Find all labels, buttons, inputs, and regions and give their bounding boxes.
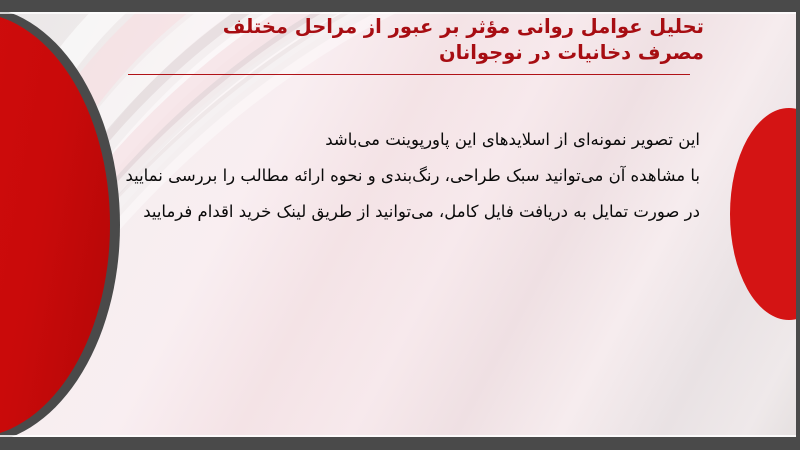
title-underline <box>128 74 690 75</box>
slide-body: این تصویر نمونه‌ای از اسلایدهای این پاور… <box>80 122 700 230</box>
body-line-3: در صورت تمایل به دریافت فایل کامل، می‌تو… <box>80 194 700 230</box>
title-line-2: مصرف دخانیات در نوجوانان <box>94 40 704 66</box>
bottom-dark-bar <box>0 437 800 450</box>
title-line-1: تحلیل عوامل روانی مؤثر بر عبور از مراحل … <box>94 14 704 40</box>
body-line-1: این تصویر نمونه‌ای از اسلایدهای این پاور… <box>80 122 700 158</box>
top-dark-bar <box>0 0 800 12</box>
presentation-slide: تحلیل عوامل روانی مؤثر بر عبور از مراحل … <box>0 0 800 450</box>
right-dark-bar <box>796 0 800 450</box>
body-line-2: با مشاهده آن می‌توانید سبک طراحی، رنگ‌بن… <box>80 158 700 194</box>
slide-title: تحلیل عوامل روانی مؤثر بر عبور از مراحل … <box>94 14 704 66</box>
